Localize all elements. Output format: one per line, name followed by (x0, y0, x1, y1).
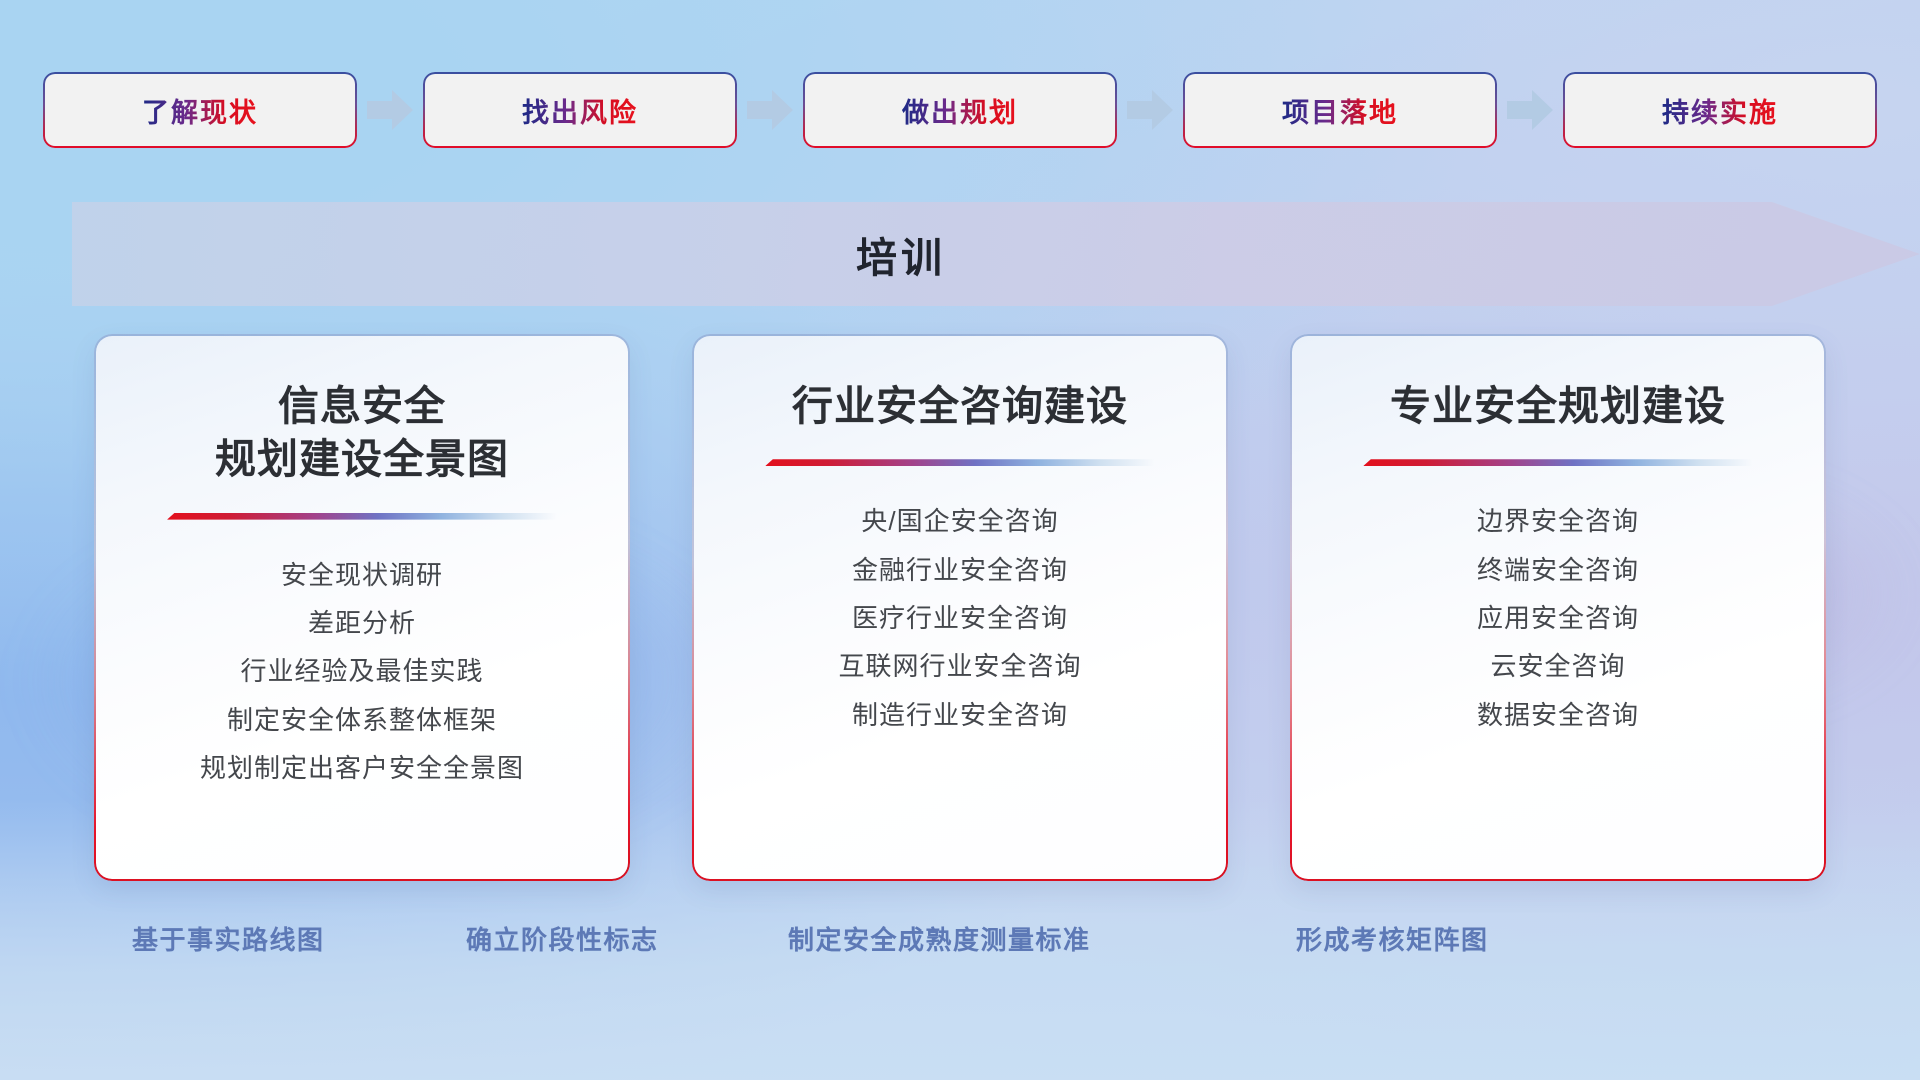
list-item: 云安全咨询 (1490, 649, 1625, 683)
footer-note-4: 形成考核矩阵图 (1296, 920, 1489, 957)
service-card-body: 信息安全 规划建设全景图安全现状调研差距分析行业经验及最佳实践制定安全体系整体框… (96, 336, 628, 879)
list-item: 终端安全咨询 (1477, 553, 1639, 587)
process-step-label: 找出风险 (522, 91, 638, 130)
arrow-right-icon (1115, 88, 1185, 132)
service-card-body: 专业安全规划建设边界安全咨询终端安全咨询应用安全咨询云安全咨询数据安全咨询 (1292, 336, 1824, 879)
service-card-3[interactable]: 专业安全规划建设边界安全咨询终端安全咨询应用安全咨询云安全咨询数据安全咨询 (1292, 336, 1824, 879)
process-step-2[interactable]: 找出风险 (425, 74, 735, 146)
list-item: 应用安全咨询 (1477, 601, 1639, 635)
footer-note-1: 基于事实路线图 (132, 920, 325, 957)
list-item: 制造行业安全咨询 (852, 698, 1068, 732)
process-step-label: 持续实施 (1662, 91, 1778, 130)
service-card-title: 行业安全咨询建设 (792, 380, 1128, 433)
list-item: 金融行业安全咨询 (852, 553, 1068, 587)
process-step-3[interactable]: 做出规划 (805, 74, 1115, 146)
service-card-list: 央/国企安全咨询金融行业安全咨询医疗行业安全咨询互联网行业安全咨询制造行业安全咨… (838, 504, 1081, 732)
service-card-list: 边界安全咨询终端安全咨询应用安全咨询云安全咨询数据安全咨询 (1477, 504, 1639, 732)
process-step-label: 项目落地 (1282, 91, 1398, 130)
service-card-2[interactable]: 行业安全咨询建设央/国企安全咨询金融行业安全咨询医疗行业安全咨询互联网行业安全咨… (694, 336, 1226, 879)
service-card-title: 专业安全规划建设 (1390, 380, 1726, 433)
training-banner: 培训 (72, 202, 1920, 306)
service-card-divider (1363, 459, 1753, 466)
list-item: 行业经验及最佳实践 (240, 654, 483, 688)
process-step-row: 了解现状找出风险做出规划项目落地持续实施 (0, 74, 1920, 146)
process-step-1[interactable]: 了解现状 (45, 74, 355, 146)
banner-title: 培训 (72, 202, 1730, 306)
service-card-list: 安全现状调研差距分析行业经验及最佳实践制定安全体系整体框架规划制定出客户安全全景… (200, 558, 524, 786)
list-item: 制定安全体系整体框架 (227, 703, 497, 737)
list-item: 差距分析 (308, 606, 416, 640)
list-item: 规划制定出客户安全全景图 (200, 751, 524, 785)
list-item: 央/国企安全咨询 (861, 504, 1058, 538)
list-item: 边界安全咨询 (1477, 504, 1639, 538)
process-step-label: 了解现状 (142, 91, 258, 130)
footer-note-3: 制定安全成熟度测量标准 (788, 920, 1091, 957)
list-item: 安全现状调研 (281, 558, 443, 592)
service-card-1[interactable]: 信息安全 规划建设全景图安全现状调研差距分析行业经验及最佳实践制定安全体系整体框… (96, 336, 628, 879)
service-card-body: 行业安全咨询建设央/国企安全咨询金融行业安全咨询医疗行业安全咨询互联网行业安全咨… (694, 336, 1226, 879)
slide-content: 了解现状找出风险做出规划项目落地持续实施 培训 信息安全 规划建设全景图安全现状… (0, 0, 1920, 1080)
list-item: 互联网行业安全咨询 (838, 649, 1081, 683)
process-step-5[interactable]: 持续实施 (1565, 74, 1875, 146)
list-item: 医疗行业安全咨询 (852, 601, 1068, 635)
arrow-right-icon (735, 88, 805, 132)
service-card-divider (167, 513, 557, 520)
service-card-divider (765, 459, 1155, 466)
service-card-title: 信息安全 规划建设全景图 (215, 380, 509, 487)
footer-note-2: 确立阶段性标志 (466, 920, 659, 957)
process-step-label: 做出规划 (902, 91, 1018, 130)
arrow-right-icon (355, 88, 425, 132)
arrow-right-icon (1495, 88, 1565, 132)
process-step-4[interactable]: 项目落地 (1185, 74, 1495, 146)
list-item: 数据安全咨询 (1477, 698, 1639, 732)
card-row: 信息安全 规划建设全景图安全现状调研差距分析行业经验及最佳实践制定安全体系整体框… (0, 336, 1920, 879)
footer-note-row: 基于事实路线图确立阶段性标志制定安全成熟度测量标准形成考核矩阵图 (0, 920, 1920, 970)
